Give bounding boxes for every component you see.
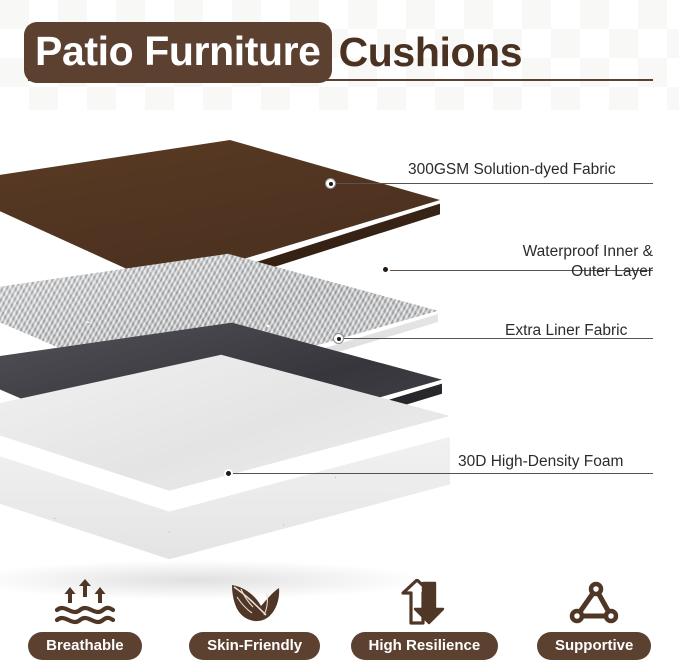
callout-marker-fabric-top [325,178,336,189]
exploded-cushion-illustration [0,130,440,550]
airflow-waves-icon [54,578,116,626]
up-down-arrows-icon [393,578,455,626]
callout-label-waterproof: Waterproof Inner & Outer Layer [413,242,653,282]
callout-line-foam [233,473,653,474]
title-plain-text: Cushions [332,32,523,73]
feature-label-high-resilience[interactable]: High Resilience [351,632,499,660]
feature-badge-row: Breathable Skin-Friendly [0,560,679,660]
infographic-page: Patio Furniture Cushions 300GSM Solution… [0,0,679,660]
callout-marker-waterproof [381,265,390,274]
callout-label-liner: Extra Liner Fabric [505,321,627,341]
page-header: Patio Furniture Cushions [0,22,679,84]
feature-label-supportive[interactable]: Supportive [537,632,651,660]
title-underline-rule [28,79,653,81]
callout-line-fabric-top [336,183,653,184]
feature-skin-friendly[interactable]: Skin-Friendly [170,560,340,660]
callout-label-foam: 30D High-Density Foam [458,452,623,472]
feature-label-skin-friendly[interactable]: Skin-Friendly [189,632,320,660]
page-title: Patio Furniture Cushions [24,22,522,83]
feature-label-breathable[interactable]: Breathable [28,632,142,660]
title-highlight-badge: Patio Furniture [24,22,332,83]
feature-high-resilience[interactable]: High Resilience [340,560,510,660]
feature-supportive[interactable]: Supportive [509,560,679,660]
callout-marker-liner [333,333,344,344]
feature-breathable[interactable]: Breathable [0,560,170,660]
triangle-nodes-icon [563,578,625,626]
callout-label-fabric-top: 300GSM Solution-dyed Fabric [408,160,616,180]
callout-marker-foam [224,469,233,478]
feather-icon [224,578,286,626]
